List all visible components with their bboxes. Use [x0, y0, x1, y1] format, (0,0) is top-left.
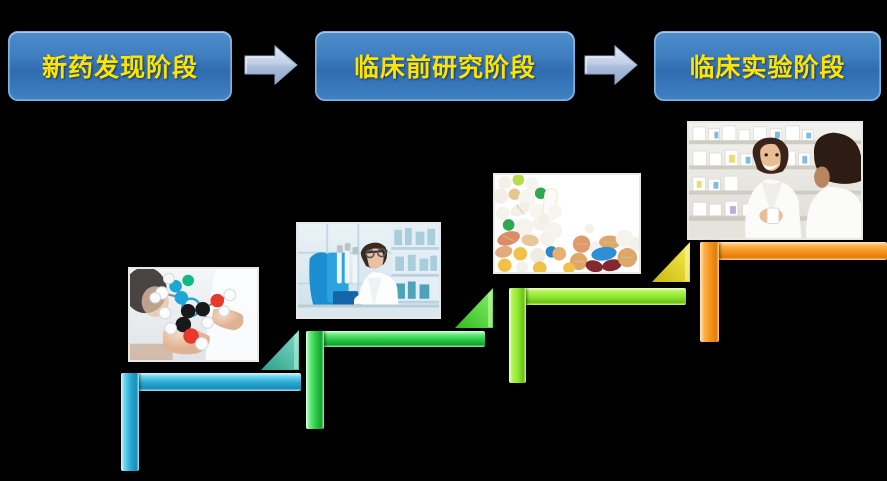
step-bar-horizontal	[121, 373, 301, 391]
step-bar-horizontal	[509, 288, 686, 305]
step-bar-vertical	[700, 242, 719, 342]
photo-laboratory-researcher	[296, 222, 441, 319]
arrow-discovery-to-preclinical	[243, 44, 299, 86]
phase-button-preclinical[interactable]: 临床前研究阶段	[315, 31, 575, 101]
connector-triangle-discovery-preclinical	[261, 330, 299, 370]
step-bar-vertical	[509, 288, 526, 383]
step-bar-discovery	[121, 373, 301, 471]
triangle-icon	[455, 288, 493, 328]
step-bar-horizontal	[700, 242, 887, 260]
phase-label-discovery: 新药发现阶段	[42, 48, 198, 84]
connector-triangle-preclinical-pills	[455, 288, 493, 328]
right-arrow-icon	[243, 44, 299, 86]
pharmacist-consultation-illustration	[689, 123, 861, 238]
step-bar-clinical	[700, 242, 887, 342]
connector-triangle-pills-clinical	[652, 242, 690, 282]
step-bar-vertical	[306, 331, 324, 429]
triangle-icon	[261, 330, 299, 370]
phase-button-clinical[interactable]: 临床实验阶段	[654, 31, 881, 101]
phase-label-preclinical: 临床前研究阶段	[354, 48, 536, 84]
molecular-model-illustration	[130, 269, 257, 360]
laboratory-researcher-illustration	[298, 224, 439, 317]
step-bar-horizontal	[306, 331, 485, 347]
photo-molecular-model	[128, 267, 259, 362]
photo-pills-tablets	[493, 173, 641, 274]
step-bar-pills	[509, 288, 686, 383]
right-arrow-icon	[583, 44, 639, 86]
photo-pharmacist-consultation	[687, 121, 863, 240]
phase-button-discovery[interactable]: 新药发现阶段	[8, 31, 232, 101]
diagram-canvas: 新药发现阶段 临床前研究阶段 临床实验阶段	[0, 0, 887, 481]
step-bar-preclinical	[306, 331, 485, 429]
step-bar-vertical	[121, 373, 139, 471]
pills-tablets-illustration	[495, 175, 639, 272]
phase-label-clinical: 临床实验阶段	[689, 48, 845, 84]
triangle-icon	[652, 242, 690, 282]
arrow-preclinical-to-clinical	[583, 44, 639, 86]
